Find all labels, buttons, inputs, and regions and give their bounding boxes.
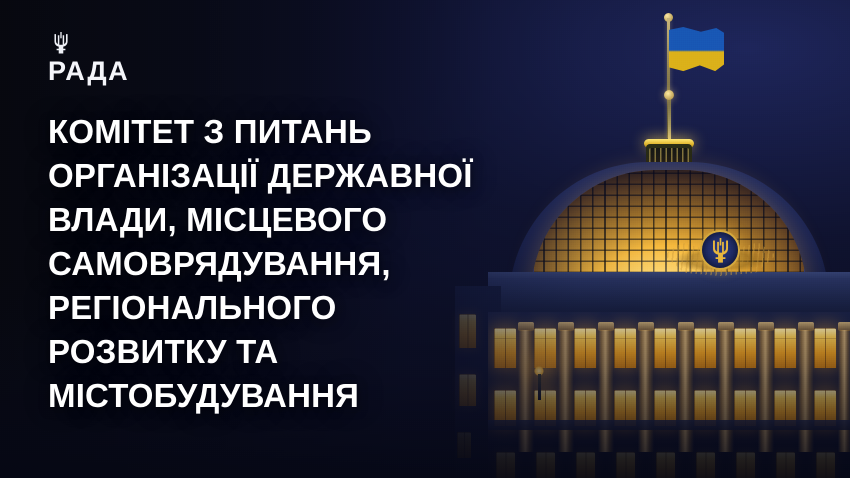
headline-line-3: ВЛАДИ, МІСЦЕВОГО: [48, 198, 688, 242]
headline-line-7: МІСТОБУДУВАННЯ: [48, 374, 688, 418]
headline-line-4: САМОВРЯДУВАННЯ,: [48, 242, 688, 286]
page-title: КОМІТЕТ З ПИТАНЬ ОРГАНІЗАЦІЇ ДЕРЖАВНОЇ В…: [48, 110, 688, 418]
ukrainian-trident-tryzub-icon: [50, 32, 72, 54]
rada-logo[interactable]: РАДА: [48, 32, 129, 85]
headline-line-2: ОРГАНІЗАЦІЇ ДЕРЖАВНОЇ: [48, 154, 688, 198]
headline-line-6: РОЗВИТКУ ТА: [48, 330, 688, 374]
headline-line-1: КОМІТЕТ З ПИТАНЬ: [48, 110, 688, 154]
headline-line-5: РЕГІОНАЛЬНОГО: [48, 286, 688, 330]
banner-content: РАДА КОМІТЕТ З ПИТАНЬ ОРГАНІЗАЦІЇ ДЕРЖАВ…: [0, 0, 850, 478]
rada-wordmark: РАДА: [48, 58, 129, 85]
committee-banner: РАДА КОМІТЕТ З ПИТАНЬ ОРГАНІЗАЦІЇ ДЕРЖАВ…: [0, 0, 850, 478]
